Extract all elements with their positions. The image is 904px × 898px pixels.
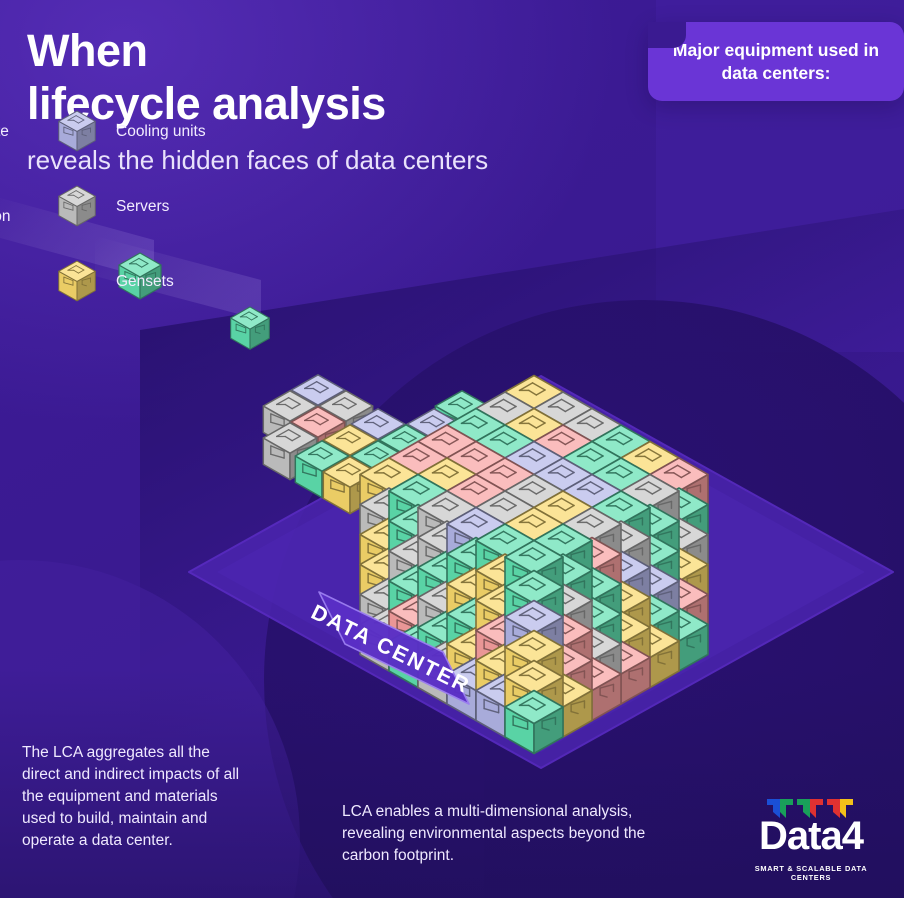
legend-item-electrical-distribution[interactable]: Electrical distribution [0, 178, 50, 236]
infographic-canvas: When lifecycle analysis reveals the hidd… [0, 0, 904, 898]
brand-name: Data4 [736, 816, 886, 856]
legend-item-servers[interactable]: Servers [50, 178, 246, 236]
body-copy-center: LCA enables a multi-dimensional analysis… [342, 801, 672, 867]
brand-tagline: SMART & SCALABLE DATA CENTERS [736, 864, 886, 882]
legend-row: Electrical distribution Servers [0, 178, 260, 236]
cube-icon [50, 178, 104, 236]
body-copy-left: The LCA aggregates all the direct and in… [22, 742, 240, 852]
legend: Major equipment used in data centers: [648, 22, 904, 101]
legend-item-concrete[interactable]: Concrete [0, 103, 50, 161]
cube-icon [50, 253, 104, 311]
legend-row: Concrete Cooling units [0, 103, 260, 161]
legend-item-label: Gensets [116, 272, 174, 291]
legend-title: Major equipment used in data centers: [648, 22, 904, 101]
legend-item-label: Concrete [0, 122, 9, 141]
legend-item-label: Cooling units [116, 122, 206, 141]
brand-logo[interactable]: Data4 SMART & SCALABLE DATA CENTERS [736, 794, 886, 880]
legend-row: Gensets [0, 253, 260, 311]
legend-items: Concrete Cooling units Electrical distri… [0, 103, 260, 328]
legend-item-gensets[interactable]: Gensets [50, 253, 246, 311]
cube-icon [50, 103, 104, 161]
legend-item-label: Servers [116, 197, 169, 216]
legend-item-cooling-units[interactable]: Cooling units [50, 103, 246, 161]
legend-item-label: Electrical distribution [0, 188, 50, 227]
